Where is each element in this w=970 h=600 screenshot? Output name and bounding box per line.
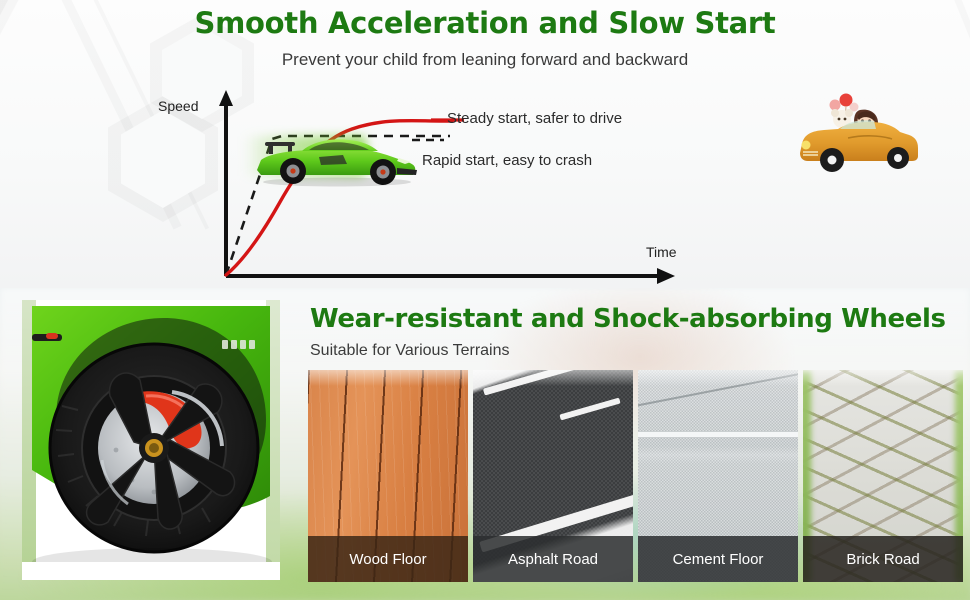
cartoon-car-illustration (790, 88, 930, 180)
cement-seam-line (638, 432, 798, 437)
terrain-label-wood: Wood Floor (308, 536, 468, 582)
acceleration-section: Smooth Acceleration and Slow Start Preve… (0, 0, 970, 288)
terrain-tile-wood[interactable]: Wood Floor (308, 370, 468, 582)
x-axis-arrow (657, 268, 675, 284)
terrain-label-asphalt: Asphalt Road (473, 536, 633, 582)
section-subtitle-acceleration: Prevent your child from leaning forward … (0, 50, 970, 70)
terrain-tile-cement[interactable]: Cement Floor (638, 370, 798, 582)
terrain-thumbnail-row: Wood Floor Asphalt Road Cement Floor (308, 370, 962, 582)
section-title-wheels: Wear-resistant and Shock-absorbing Wheel… (310, 304, 946, 334)
green-sports-car-illustration (247, 124, 422, 188)
y-axis-label: Speed (158, 98, 198, 114)
terrain-tile-asphalt[interactable]: Asphalt Road (473, 370, 633, 582)
tile-top-fade (308, 370, 468, 386)
terrain-label-brick: Brick Road (803, 536, 963, 582)
tile-top-fade (638, 370, 798, 386)
road-dash-marking (559, 398, 620, 421)
y-axis-arrow (219, 90, 233, 106)
x-axis-label: Time (646, 244, 677, 260)
legend-label-steady: Steady start, safer to drive (447, 110, 622, 127)
terrain-tile-brick[interactable]: Brick Road (803, 370, 963, 582)
wheel-closeup-photo (22, 300, 280, 580)
legend-label-rapid: Rapid start, easy to crash (422, 152, 592, 169)
tile-top-fade (803, 370, 963, 386)
tile-top-fade (473, 370, 633, 386)
product-feature-image: Smooth Acceleration and Slow Start Preve… (0, 0, 970, 600)
section-subtitle-wheels: Suitable for Various Terrains (310, 342, 510, 360)
section-title-acceleration: Smooth Acceleration and Slow Start (0, 6, 970, 40)
terrain-label-cement: Cement Floor (638, 536, 798, 582)
